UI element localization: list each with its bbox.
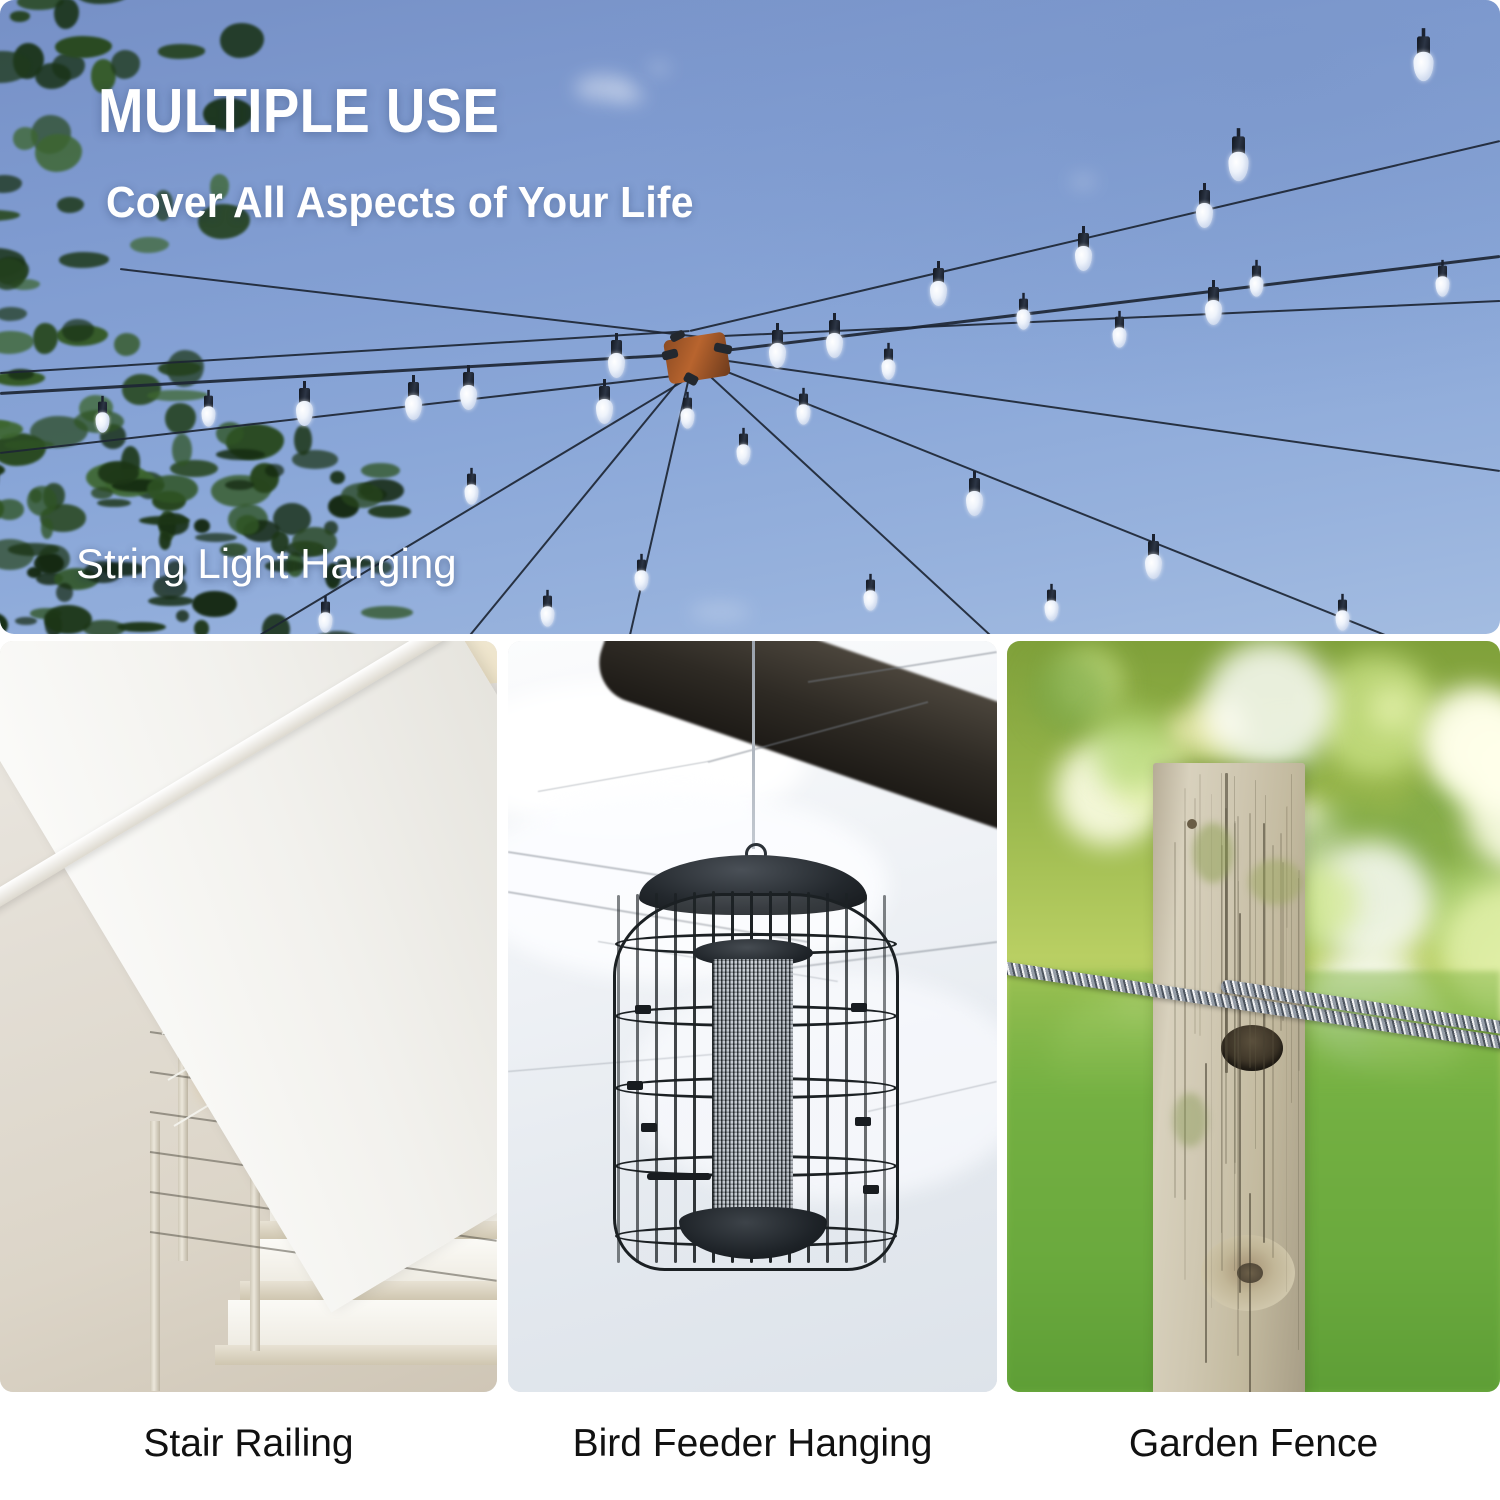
cloud [690, 602, 750, 622]
light-bulb [319, 602, 333, 634]
light-bulb [405, 382, 422, 422]
stair-scene [0, 641, 497, 1392]
caption-stair-railing: Stair Railing [0, 1422, 497, 1466]
panel-bird-feeder [508, 641, 997, 1392]
feeder-perch [647, 1173, 711, 1180]
light-bulb [826, 320, 843, 360]
panel-garden-fence [1007, 641, 1500, 1392]
light-bulb [1017, 299, 1031, 332]
light-bulb [1413, 36, 1433, 83]
light-bulb [96, 402, 110, 435]
light-bulb [737, 434, 751, 467]
cloud [612, 88, 646, 104]
hero-panel-string-lights: MULTIPLE USE Cover All Aspects of Your L… [0, 0, 1500, 634]
light-bulb [1205, 287, 1222, 327]
caged-bird-feeder [601, 855, 905, 1275]
light-bulb [1045, 590, 1059, 623]
wooden-fence-post [1153, 763, 1305, 1392]
railing-post [150, 1121, 160, 1391]
panel-stair-railing [0, 641, 497, 1392]
light-bulb [864, 580, 878, 613]
snow-background [508, 641, 997, 1392]
light-bulb [966, 478, 983, 518]
light-bulb [769, 330, 786, 370]
foliage-lower-left [0, 400, 390, 634]
page-title: MULTIPLE USE [98, 76, 499, 147]
light-bulb [1196, 190, 1213, 230]
light-bulb [296, 388, 313, 428]
wire-hub-bracket [660, 330, 738, 392]
light-bulb [930, 268, 947, 308]
light-bulb [608, 340, 625, 380]
light-bulb [635, 560, 649, 593]
light-bulb [1145, 541, 1162, 581]
light-bulb [1336, 600, 1350, 633]
light-bulb [1228, 136, 1248, 183]
light-bulb [1250, 266, 1264, 299]
light-bulb [460, 372, 477, 412]
cloud [648, 62, 670, 74]
caption-garden-fence: Garden Fence [1007, 1422, 1500, 1466]
drilled-hole [1221, 1025, 1283, 1071]
light-bulb [541, 596, 555, 629]
light-bulb [596, 386, 613, 426]
light-bulb [1113, 317, 1127, 350]
feeder-mesh-tube [713, 959, 793, 1217]
light-bulb [1436, 266, 1450, 299]
light-bulb [797, 394, 811, 427]
light-bulb [1075, 233, 1092, 273]
hanging-cable [752, 641, 755, 849]
cloud [1070, 175, 1096, 188]
stair-riser [228, 1300, 497, 1345]
caption-bird-feeder-hanging: Bird Feeder Hanging [508, 1422, 997, 1466]
garden-background [1007, 641, 1500, 1392]
light-bulb [465, 474, 479, 507]
hero-caption: String Light Hanging [76, 540, 457, 588]
infographic-board: MULTIPLE USE Cover All Aspects of Your L… [0, 0, 1500, 1500]
page-subtitle: Cover All Aspects of Your Life [106, 178, 694, 228]
light-bulb [882, 349, 896, 382]
light-bulb [681, 398, 695, 431]
light-bulb [202, 396, 216, 429]
